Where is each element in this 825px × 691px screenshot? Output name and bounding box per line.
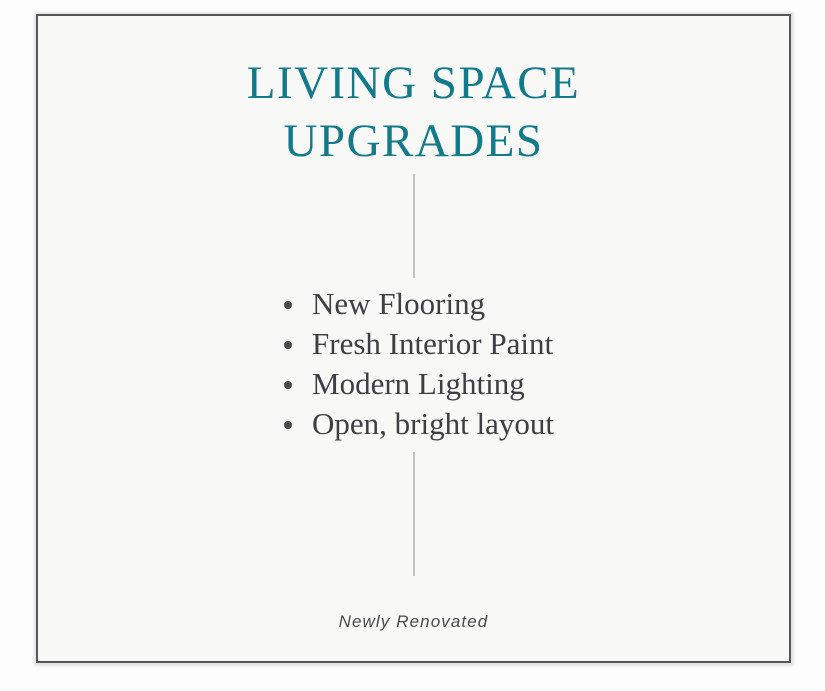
list-item-label: Fresh Interior Paint	[312, 326, 553, 361]
bullet-icon	[284, 421, 292, 429]
list-item-label: Modern Lighting	[312, 366, 525, 401]
footer-caption: Newly Renovated	[38, 612, 789, 632]
list-item: Open, bright layout	[273, 404, 554, 444]
page-title: LIVING SPACE UPGRADES	[38, 54, 789, 170]
list-item-label: Open, bright layout	[312, 406, 554, 441]
divider-bottom	[413, 452, 414, 576]
bullet-icon	[284, 381, 292, 389]
list-item: New Flooring	[273, 284, 554, 324]
poster-canvas: LIVING SPACE UPGRADES New Flooring Fresh…	[0, 0, 825, 691]
title-line-2: UPGRADES	[38, 112, 789, 170]
feature-list: New Flooring Fresh Interior Paint Modern…	[273, 284, 554, 444]
list-item-label: New Flooring	[312, 286, 485, 321]
list-item: Fresh Interior Paint	[273, 324, 554, 364]
bullet-icon	[284, 341, 292, 349]
title-line-1: LIVING SPACE	[38, 54, 789, 112]
list-item: Modern Lighting	[273, 364, 554, 404]
bullet-icon	[284, 301, 292, 309]
poster-inner: LIVING SPACE UPGRADES New Flooring Fresh…	[38, 16, 789, 661]
divider-top	[413, 174, 414, 278]
poster-frame: LIVING SPACE UPGRADES New Flooring Fresh…	[36, 14, 791, 663]
feature-list-container: New Flooring Fresh Interior Paint Modern…	[38, 284, 789, 444]
